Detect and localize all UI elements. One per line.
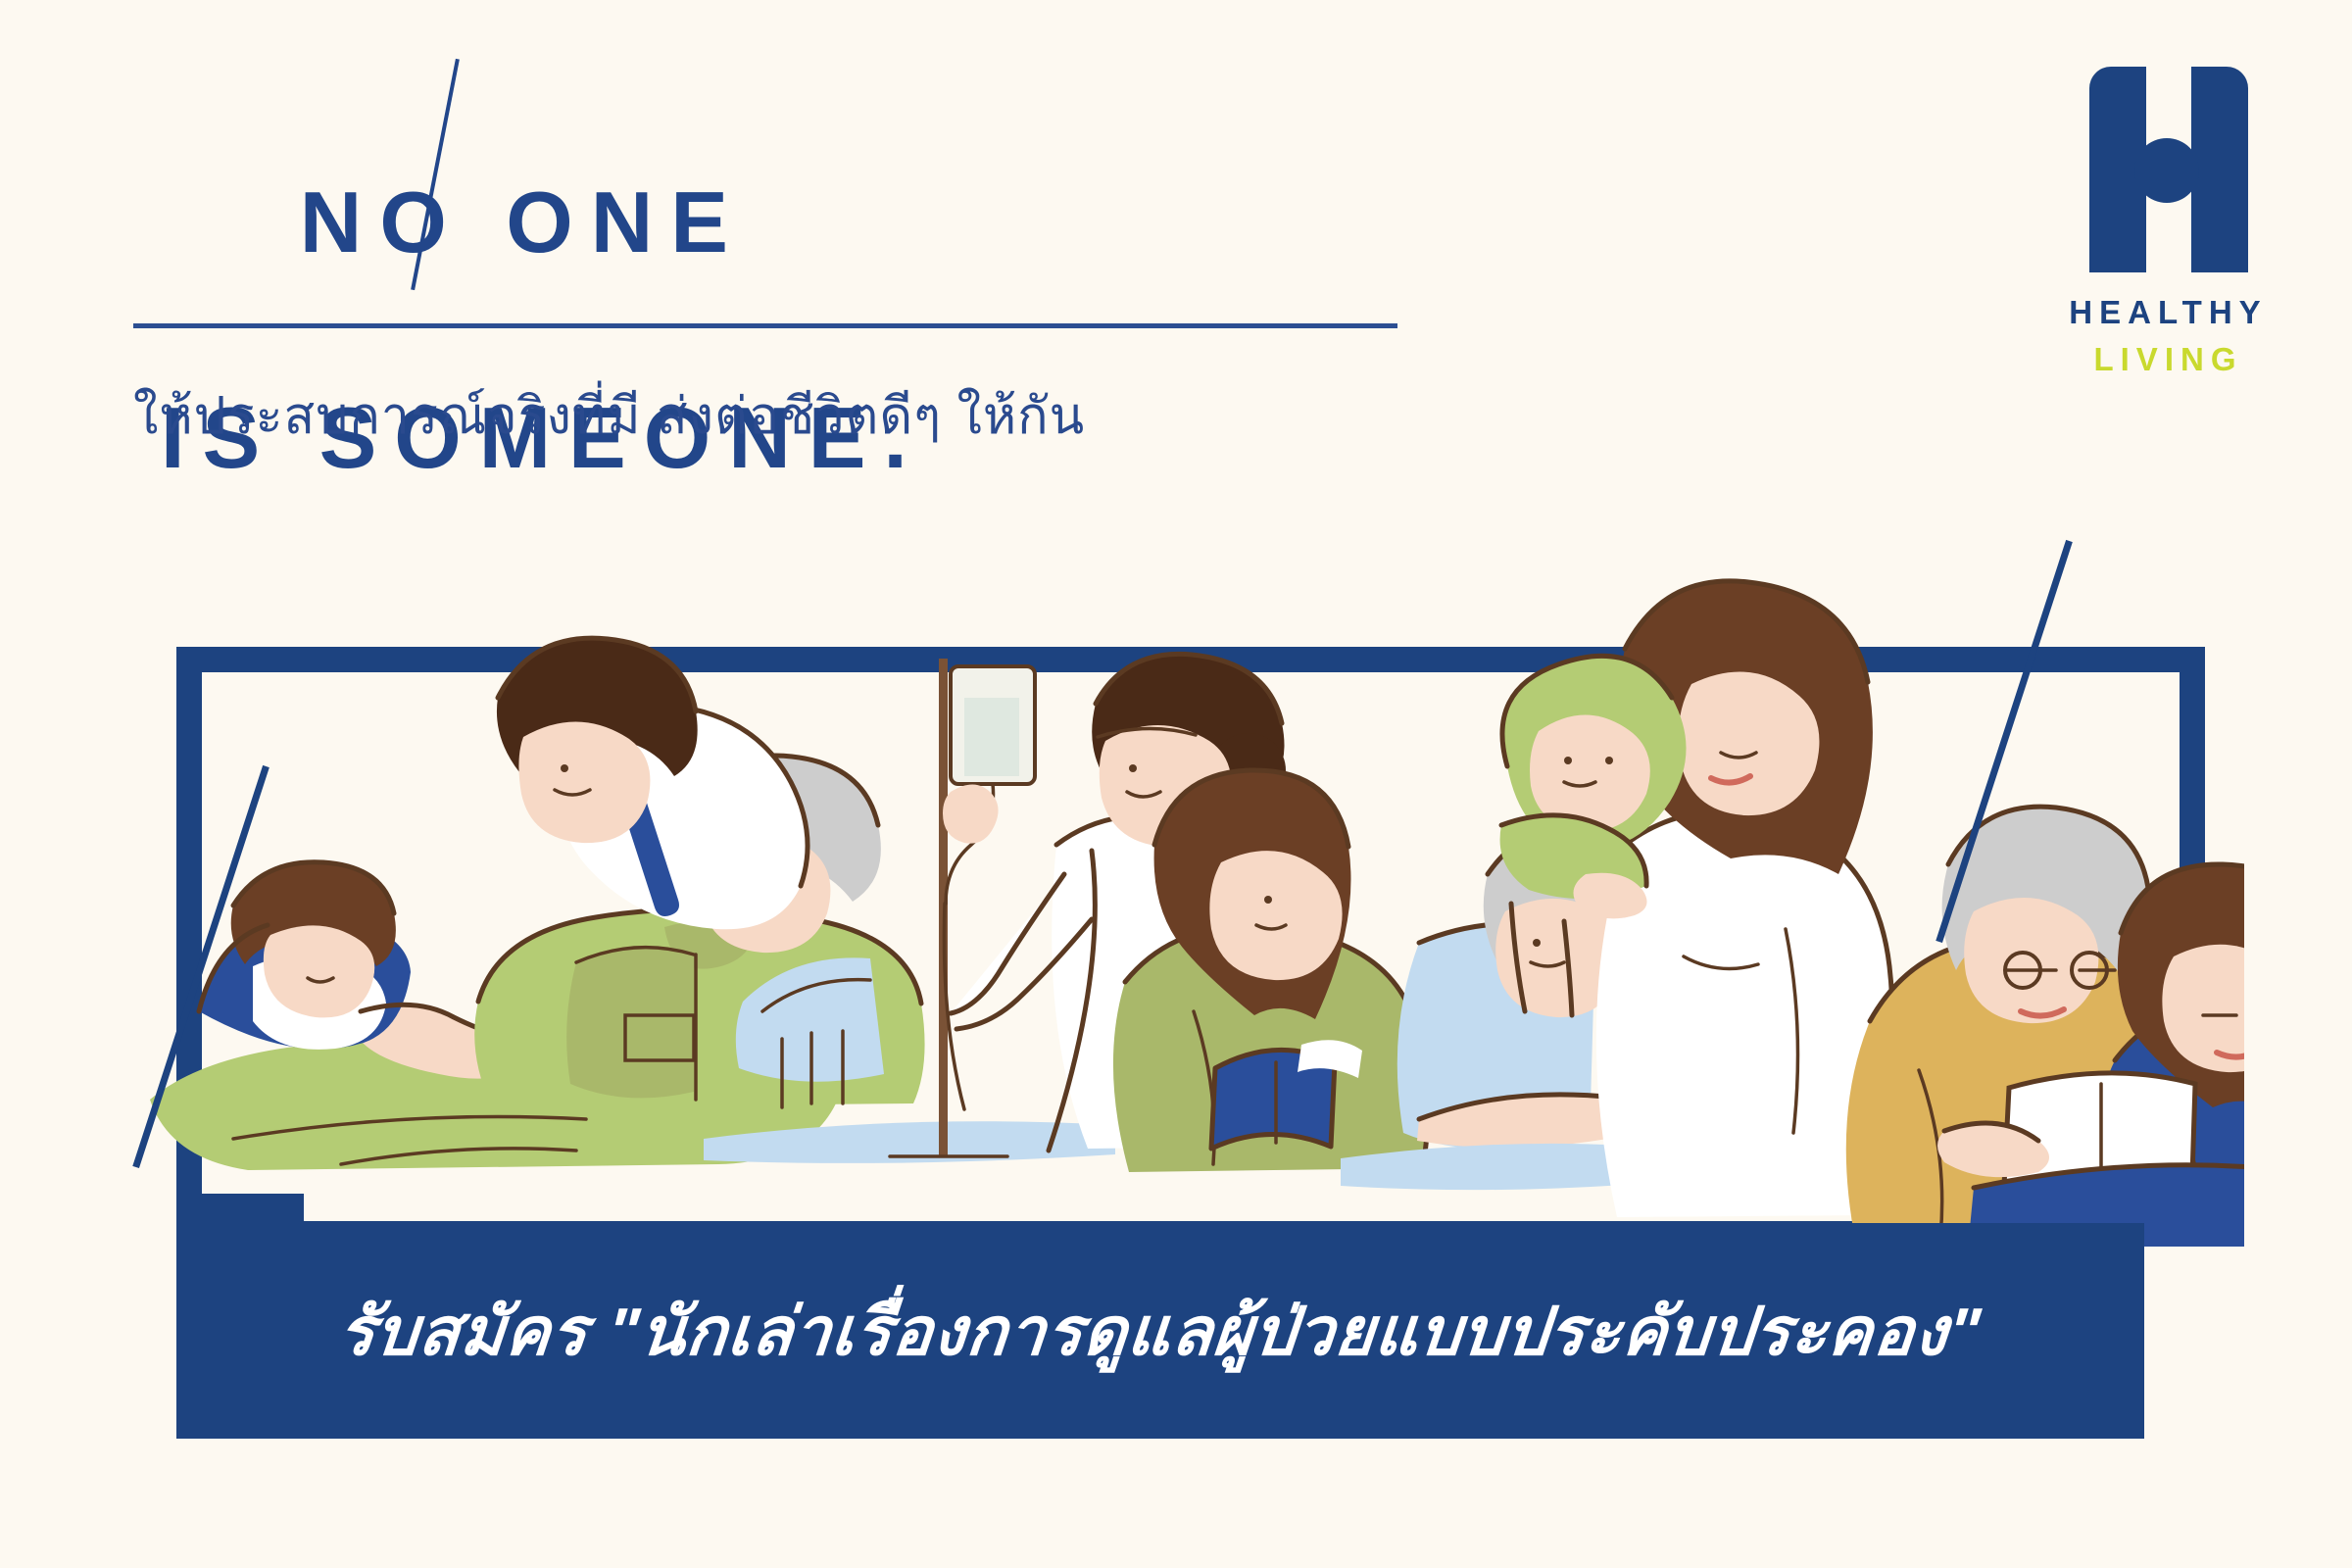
headline-divider: [133, 323, 1397, 328]
recruitment-banner: รับสมัคร "นักเล่าเรื่องการดูแลผู้ป่วยแบบ…: [176, 1223, 2144, 1439]
scene-grandmother-and-girl-with-book: [1846, 807, 2244, 1247]
logo-word-living: LIVING: [2063, 341, 2274, 378]
brand-logo: HEALTHY LIVING: [2063, 67, 2274, 378]
illustration-artwork: .ln{fill:none;stroke:#5b3a22;stroke-widt…: [116, 551, 2244, 1247]
illustration-band: .ln{fill:none;stroke:#5b3a22;stroke-widt…: [116, 551, 2244, 1247]
h-monogram-icon: [2076, 67, 2262, 272]
poster-canvas: NO ONE IS SOMEONE. ให้ประสบการณ์จริงที่ม…: [0, 0, 2352, 1568]
banner-text: รับสมัคร "นักเล่าเรื่องการดูแลผู้ป่วยแบบ…: [335, 1278, 1986, 1384]
headline-line-1: NO ONE: [300, 173, 746, 270]
h-circle-icon: [2134, 138, 2199, 203]
logo-word-healthy: HEALTHY: [2063, 294, 2274, 331]
subheadline: ให้ประสบการณ์จริงที่มี ส่งต่อชีวิตดีๆ ให…: [133, 374, 1085, 456]
